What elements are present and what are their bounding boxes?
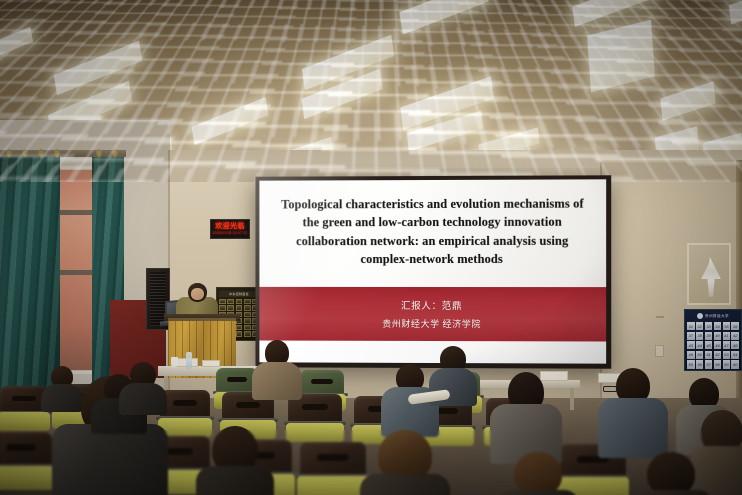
chair-seat (0, 412, 50, 430)
paper-cup (171, 357, 178, 367)
numbered-board-cell[interactable]: 34 (714, 322, 722, 330)
av-panel-label: 中央控制面板 (229, 292, 249, 296)
wall-marker (656, 316, 664, 318)
av-panel-button[interactable] (219, 305, 226, 310)
projected-slide: Topological characteristics and evolutio… (259, 179, 606, 363)
av-panel-button[interactable] (236, 325, 243, 330)
audience-member (196, 426, 274, 495)
numbered-board-cell[interactable]: 53 (723, 351, 731, 359)
numbered-board-cell[interactable]: 40 (714, 332, 722, 340)
led-scrolling-sign: 欢迎光临 2026/01/18 14:07:22 (210, 219, 250, 239)
av-panel-button[interactable] (244, 312, 251, 317)
curtain-ring (22, 149, 28, 158)
chair-back-slot (317, 454, 349, 461)
audience-member (598, 368, 668, 456)
eyeglasses (603, 386, 617, 392)
numbered-board-cell[interactable]: 44 (696, 341, 704, 349)
numbered-board-cell[interactable]: 59 (723, 360, 731, 368)
chair[interactable] (288, 394, 342, 446)
av-panel-label-bar: 中央控制面板 (219, 291, 259, 297)
chair-back-slot (302, 404, 328, 410)
numbered-board-title: 贵州财经大学 (705, 314, 729, 319)
audience-member (360, 430, 450, 495)
slide-title-area: Topological characteristics and evolutio… (259, 179, 606, 287)
slide-red-band: 汇报人：范鼎 贵州财经大学 经济学院 (259, 287, 606, 342)
water-bottle (186, 352, 192, 369)
person-torso (360, 474, 450, 495)
person-torso (628, 490, 714, 495)
numbered-board-cell[interactable]: 38 (696, 332, 704, 340)
projection-screen: Topological characteristics and evolutio… (255, 175, 611, 368)
numbered-board-cell[interactable]: 54 (731, 351, 739, 359)
person-torso (196, 466, 274, 495)
numbered-board-cell[interactable]: 32 (696, 322, 704, 330)
numbered-board-cell[interactable]: 48 (731, 341, 739, 349)
person-torso (52, 424, 168, 495)
numbered-board-cell[interactable]: 52 (714, 351, 722, 359)
av-panel-button[interactable] (227, 305, 234, 310)
numbered-board-cell[interactable]: 51 (705, 351, 713, 359)
numbered-board-cell[interactable]: 31 (687, 322, 695, 330)
presenter-face (191, 288, 204, 300)
poster-dancer-figure (701, 257, 721, 297)
numbered-board-header: 贵州财经大学 (687, 312, 739, 320)
av-panel-button[interactable] (244, 318, 251, 323)
slide-title-line-3: collaboration network: an empirical anal… (281, 231, 584, 250)
side-table-leg (570, 388, 574, 410)
chair-back-slot (173, 400, 197, 406)
papers-on-desk (202, 360, 220, 367)
av-panel-button[interactable] (236, 299, 243, 304)
numbered-board-cell[interactable]: 56 (696, 360, 704, 368)
numbered-board-cell[interactable]: 43 (687, 341, 695, 349)
slide-presenter-line: 汇报人：范鼎 (401, 298, 462, 312)
numbered-board-cell[interactable]: 49 (687, 351, 695, 359)
curtain-ring (54, 149, 60, 158)
person-torso (496, 490, 580, 495)
university-logo-icon (697, 313, 703, 319)
audience-member (118, 362, 168, 410)
numbered-board-cell[interactable]: 45 (705, 341, 713, 349)
numbered-board-cell[interactable]: 47 (723, 341, 731, 349)
chair-seat (286, 423, 344, 443)
chair-back-slot (236, 402, 261, 408)
slide-title-line-4: complex-network methods (281, 250, 584, 269)
ceiling-light (729, 0, 742, 25)
numbered-board-cell[interactable]: 58 (714, 360, 722, 368)
numbered-board-cell[interactable]: 60 (731, 360, 739, 368)
numbered-board-cell[interactable]: 36 (731, 322, 739, 330)
curtain-ring (96, 149, 102, 158)
chair[interactable] (0, 432, 52, 494)
slide-title-line-1: Topological characteristics and evolutio… (281, 194, 584, 213)
av-panel-button[interactable] (227, 299, 234, 304)
person-head (647, 452, 695, 495)
person-torso (252, 362, 302, 400)
av-panel-button[interactable] (244, 325, 251, 330)
curtain-rod (0, 150, 126, 157)
chair-seat (297, 476, 368, 495)
av-panel-button[interactable] (236, 305, 243, 310)
numbered-board-cell[interactable]: 39 (705, 332, 713, 340)
led-sign-bottom-text: 2026/01/18 14:07:22 (213, 232, 248, 235)
chair[interactable] (300, 442, 366, 495)
chair-back-slot (12, 396, 35, 401)
av-panel-button[interactable] (219, 299, 226, 304)
door-frame-edge (736, 160, 742, 410)
person-head (514, 452, 562, 495)
av-panel-button[interactable] (244, 305, 251, 310)
numbered-board-cell[interactable]: 55 (687, 360, 695, 368)
numbered-board-cell[interactable]: 41 (723, 332, 731, 340)
chair-back-slot (6, 444, 36, 451)
person-torso (598, 398, 668, 458)
slide-title: Topological characteristics and evolutio… (265, 194, 600, 268)
av-panel-button[interactable] (244, 299, 251, 304)
audience-member (490, 372, 562, 462)
slide-affiliation-line: 贵州财经大学 经济学院 (382, 317, 481, 330)
chair-back-slot (227, 377, 247, 382)
numbered-board-cell[interactable]: 50 (696, 351, 704, 359)
av-panel-button[interactable] (244, 331, 251, 336)
framed-poster (687, 243, 731, 305)
numbered-board-cell[interactable]: 37 (687, 332, 695, 340)
slide-title-line-2: the green and low-carbon technology inno… (281, 213, 584, 232)
led-sign-top-text: 欢迎光临 (215, 223, 245, 230)
curtain-ring (38, 149, 44, 158)
numbered-board-grid[interactable]: 3132333435363738394041424344454647484950… (687, 322, 739, 369)
numbered-board-cell[interactable]: 35 (723, 322, 731, 330)
numbered-board-cell[interactable]: 57 (705, 360, 713, 368)
audience-member (628, 452, 714, 495)
curtain-ring (112, 149, 118, 158)
chair-seat (0, 466, 54, 490)
numbered-key-board[interactable]: 贵州财经大学 313233343536373839404142434445464… (684, 309, 742, 371)
audience-member (496, 452, 580, 495)
audience-member (252, 340, 302, 396)
lecture-hall-photo: 欢迎光临 2026/01/18 14:07:22 中央控制面板 Topologi… (0, 0, 742, 495)
chair-back-slot (311, 379, 332, 384)
person-torso (119, 383, 167, 415)
curtain-ring (6, 149, 12, 158)
numbered-board-cell[interactable]: 46 (714, 341, 722, 349)
av-panel-button[interactable] (236, 331, 243, 336)
numbered-board-cell[interactable]: 42 (731, 332, 739, 340)
numbered-board-cell[interactable]: 33 (705, 322, 713, 330)
wall-outlet[interactable] (655, 345, 664, 357)
